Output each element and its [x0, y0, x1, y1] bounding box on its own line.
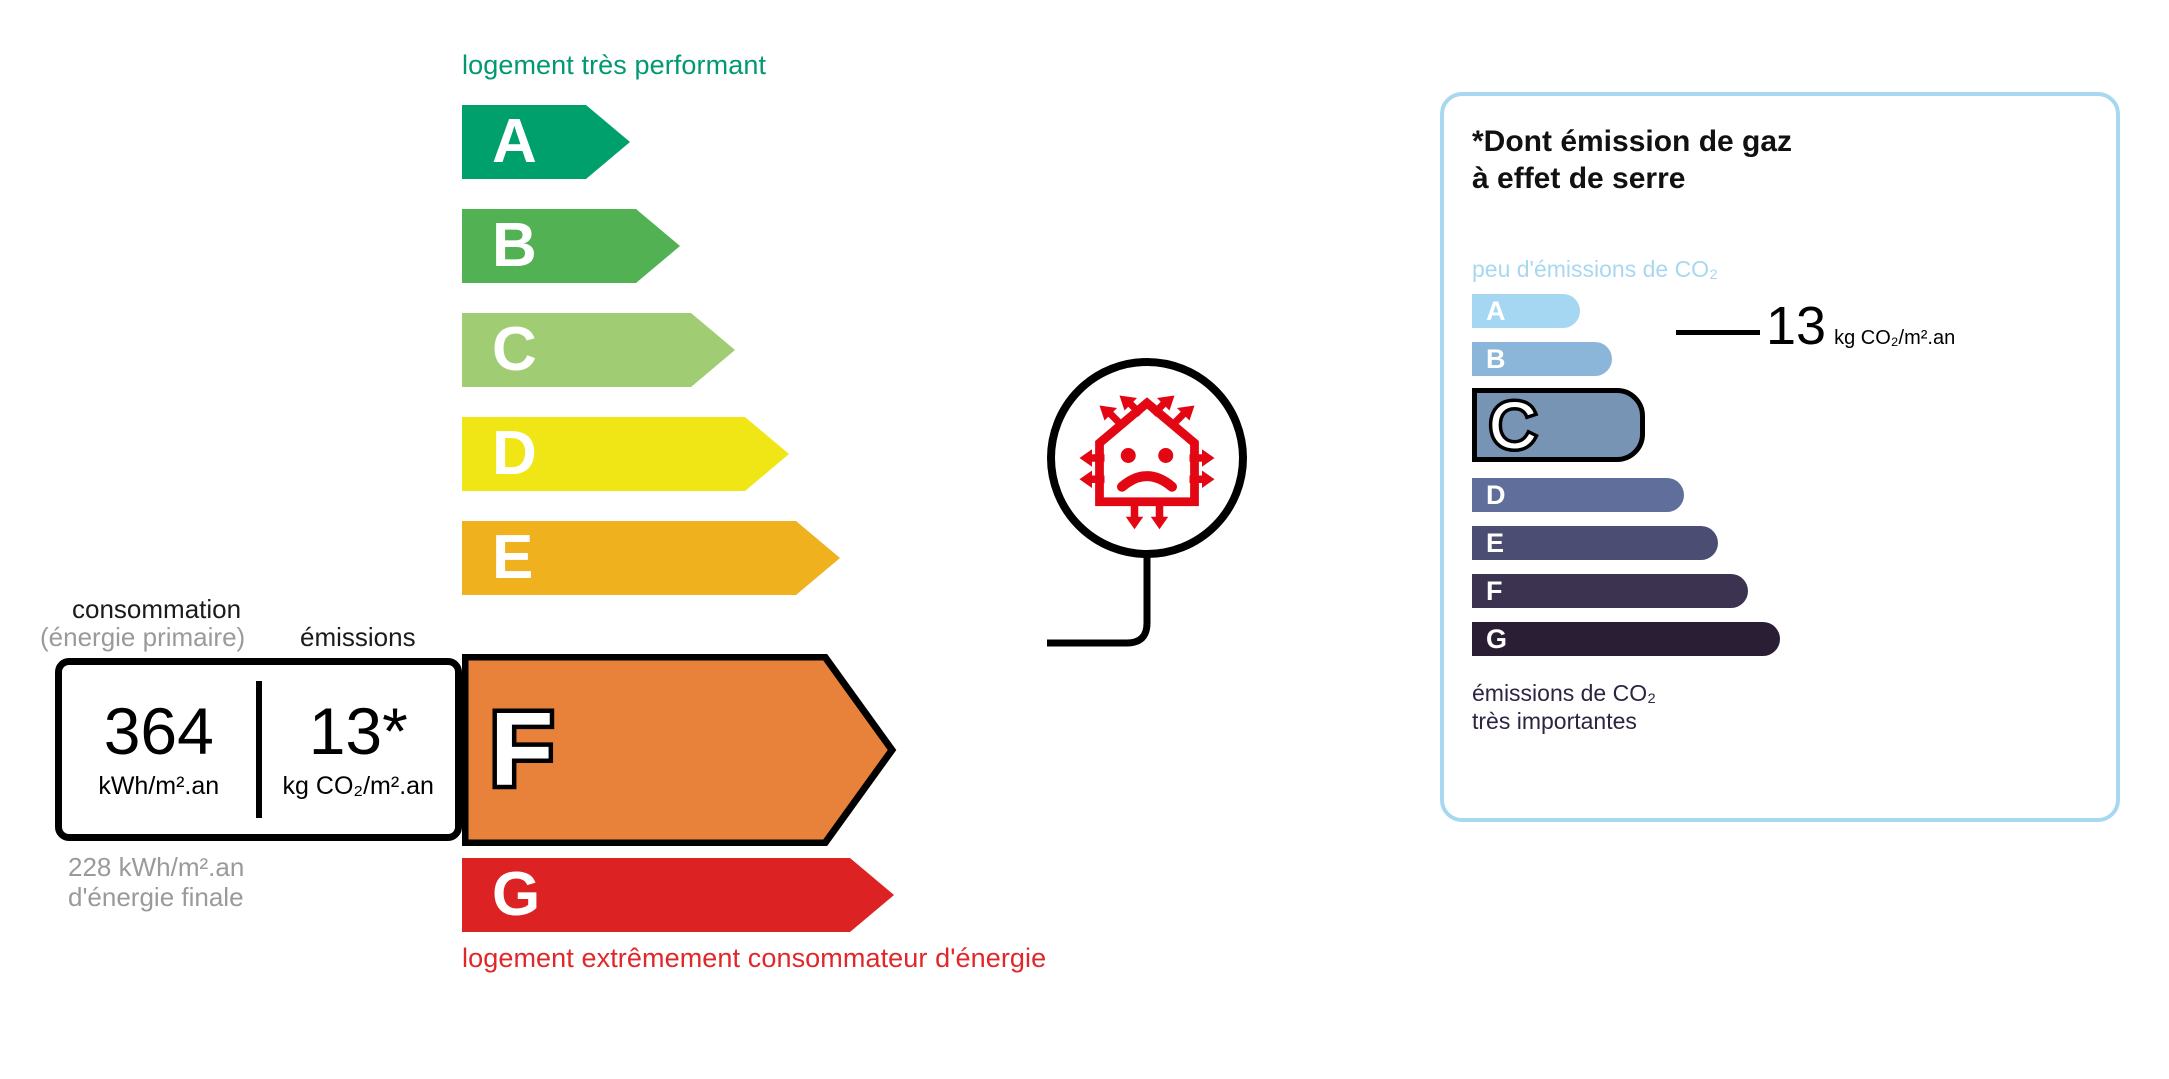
- house-energy-badge[interactable]: [1047, 358, 1247, 558]
- ges-class-row-f[interactable]: F: [1472, 574, 1748, 608]
- ges-panel-title: *Dont émission de gaz à effet de serre: [1472, 124, 1792, 197]
- emission-value: 13*: [309, 698, 408, 764]
- ges-class-letter-c: C: [1489, 392, 1537, 458]
- ges-class-row-c-selected[interactable]: C: [1472, 388, 1645, 462]
- consumption-heading: consommation: [72, 594, 241, 625]
- ges-class-letter-d: D: [1486, 482, 1506, 509]
- ges-caption-bottom: émissions de CO₂ très importantes: [1472, 680, 1656, 735]
- ges-caption-top: peu d'émissions de CO₂: [1472, 256, 1718, 283]
- ges-class-letter-g: G: [1486, 626, 1507, 653]
- ges-value: 13: [1766, 299, 1826, 353]
- ges-class-letter-e: E: [1486, 530, 1504, 557]
- sad-house-heat-loss-icon: [1072, 383, 1222, 533]
- ges-class-letter-a: A: [1486, 298, 1506, 325]
- consumption-subheading: (énergie primaire): [40, 622, 245, 653]
- energy-class-row-g[interactable]: G: [462, 858, 894, 932]
- consumption-value: 364: [104, 698, 214, 764]
- ges-class-row-e[interactable]: E: [1472, 526, 1718, 560]
- consumption-value-cell: 364 kWh/m².an: [62, 665, 256, 834]
- energy-class-letter-g: G: [492, 864, 540, 926]
- energy-class-row-d[interactable]: D: [462, 417, 789, 491]
- energy-class-letter-c: C: [492, 319, 537, 381]
- ges-class-row-d[interactable]: D: [1472, 478, 1684, 512]
- energy-performance-scale: logement très performant logement extrêm…: [0, 0, 1420, 1079]
- ges-class-row-g[interactable]: G: [1472, 622, 1780, 656]
- energy-bar-a: [462, 105, 630, 179]
- badge-circle: [1047, 358, 1247, 558]
- energy-class-letter-b: B: [492, 215, 537, 277]
- ges-value-group: 13 kg CO₂/m².an: [1766, 299, 1955, 353]
- ges-emissions-panel: *Dont émission de gaz à effet de serre p…: [1440, 92, 2120, 822]
- energy-class-row-e[interactable]: E: [462, 521, 840, 595]
- final-energy-note: 228 kWh/m².an d'énergie finale: [68, 853, 244, 913]
- energy-class-letter-f: F: [490, 698, 554, 802]
- dpe-value-box: 364 kWh/m².an 13* kg CO₂/m².an: [55, 658, 462, 841]
- energy-class-letter-d: D: [492, 423, 537, 485]
- consumption-unit: kWh/m².an: [98, 772, 219, 801]
- energy-class-row-f-selected[interactable]: F: [462, 654, 894, 846]
- scale-caption-bottom: logement extrêmement consommateur d'éner…: [462, 943, 1046, 974]
- energy-class-row-b[interactable]: B: [462, 209, 680, 283]
- ges-class-row-a[interactable]: A: [1472, 294, 1580, 328]
- ges-leader-line: [1676, 330, 1760, 335]
- emission-heading: émissions: [300, 622, 416, 653]
- energy-class-row-c[interactable]: C: [462, 313, 735, 387]
- ges-class-letter-f: F: [1486, 578, 1503, 605]
- ges-class-row-b[interactable]: B: [1472, 342, 1612, 376]
- ges-unit: kg CO₂/m².an: [1834, 327, 1955, 350]
- scale-caption-top: logement très performant: [462, 50, 766, 81]
- badge-connector-line: [1047, 548, 1247, 748]
- energy-class-row-a[interactable]: A: [462, 105, 630, 179]
- ges-class-letter-b: B: [1486, 346, 1506, 373]
- energy-class-letter-a: A: [492, 111, 537, 173]
- emission-value-cell: 13* kg CO₂/m².an: [262, 665, 456, 834]
- energy-class-letter-e: E: [492, 527, 533, 589]
- emission-unit: kg CO₂/m².an: [283, 772, 434, 801]
